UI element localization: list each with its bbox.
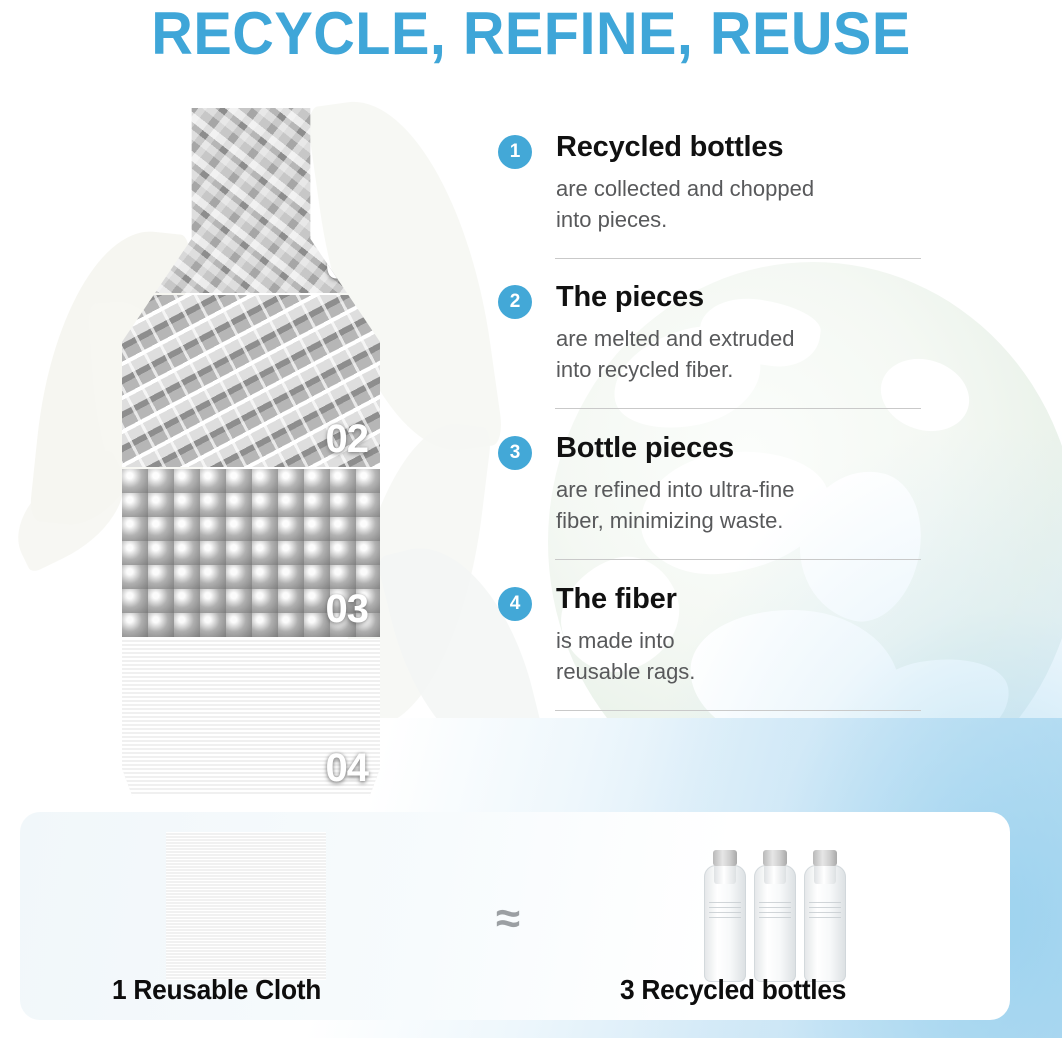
bottle-band-label: 01 [326,243,369,287]
bottle-band-04: 04 [122,639,380,796]
bottle-cap [713,850,737,866]
step-description-2: are melted and extruded into recycled fi… [556,323,795,385]
bottle-neck [714,864,736,884]
step-divider-2 [555,408,921,409]
step-item-4: 4 The fiber is made into reusable rags. [498,582,938,711]
bottle-cap [813,850,837,866]
recycled-bottles-group [704,826,864,982]
equivalence-card: ≈ 1 Reusable Cloth 3 Recycled bo [20,812,1010,1020]
bottle-band-label: 02 [326,417,369,461]
step-description-4: is made into reusable rags. [556,625,695,687]
step-number-badge-4: 4 [498,587,532,621]
step-divider-4 [555,710,921,711]
bottle-ribs [709,902,741,918]
step-item-1: 1 Recycled bottles are collected and cho… [498,130,938,259]
bottle-neck [764,864,786,884]
step-divider-1 [555,258,921,259]
steps-list: 1 Recycled bottles are collected and cho… [498,130,938,711]
step-title-3: Bottle pieces [556,431,794,465]
step-title-2: The pieces [556,280,795,314]
bottle-ribs [809,902,841,918]
bottle-band-label: 03 [326,587,369,631]
step-item-2: 2 The pieces are melted and extruded int… [498,280,938,409]
step-description-1: are collected and chopped into pieces. [556,173,814,235]
bottle-band-03: 03 [122,469,380,637]
bottle-silhouette: 01 02 03 04 [122,108,380,796]
bottle-neck [814,864,836,884]
step-divider-3 [555,559,921,560]
bottle-icon [804,850,846,982]
step-description-3: are refined into ultra-fine fiber, minim… [556,474,794,536]
infographic-page: RECYCLE, REFINE, REUSE 01 02 03 04 1 Rec… [0,0,1062,1038]
reusable-cloth-swatch [166,832,326,980]
cloth-label: 1 Reusable Cloth [112,974,321,1006]
bottle-band-label: 04 [326,746,369,790]
bottle-icon [754,850,796,982]
step-title-4: The fiber [556,582,695,616]
page-title: RECYCLE, REFINE, REUSE [21,0,1041,76]
step-number-badge-3: 3 [498,436,532,470]
step-item-3: 3 Bottle pieces are refined into ultra-f… [498,431,938,560]
bottle-band-01: 01 [122,108,380,293]
bottle-illustration: 01 02 03 04 [122,108,380,796]
bottle-icon [704,850,746,982]
step-number-badge-1: 1 [498,135,532,169]
bottle-cap [763,850,787,866]
step-title-1: Recycled bottles [556,130,814,164]
bottles-label: 3 Recycled bottles [620,974,846,1006]
approximately-equal-icon: ≈ [478,897,538,941]
bottle-ribs [759,902,791,918]
step-number-badge-2: 2 [498,285,532,319]
bottle-band-02: 02 [122,295,380,467]
